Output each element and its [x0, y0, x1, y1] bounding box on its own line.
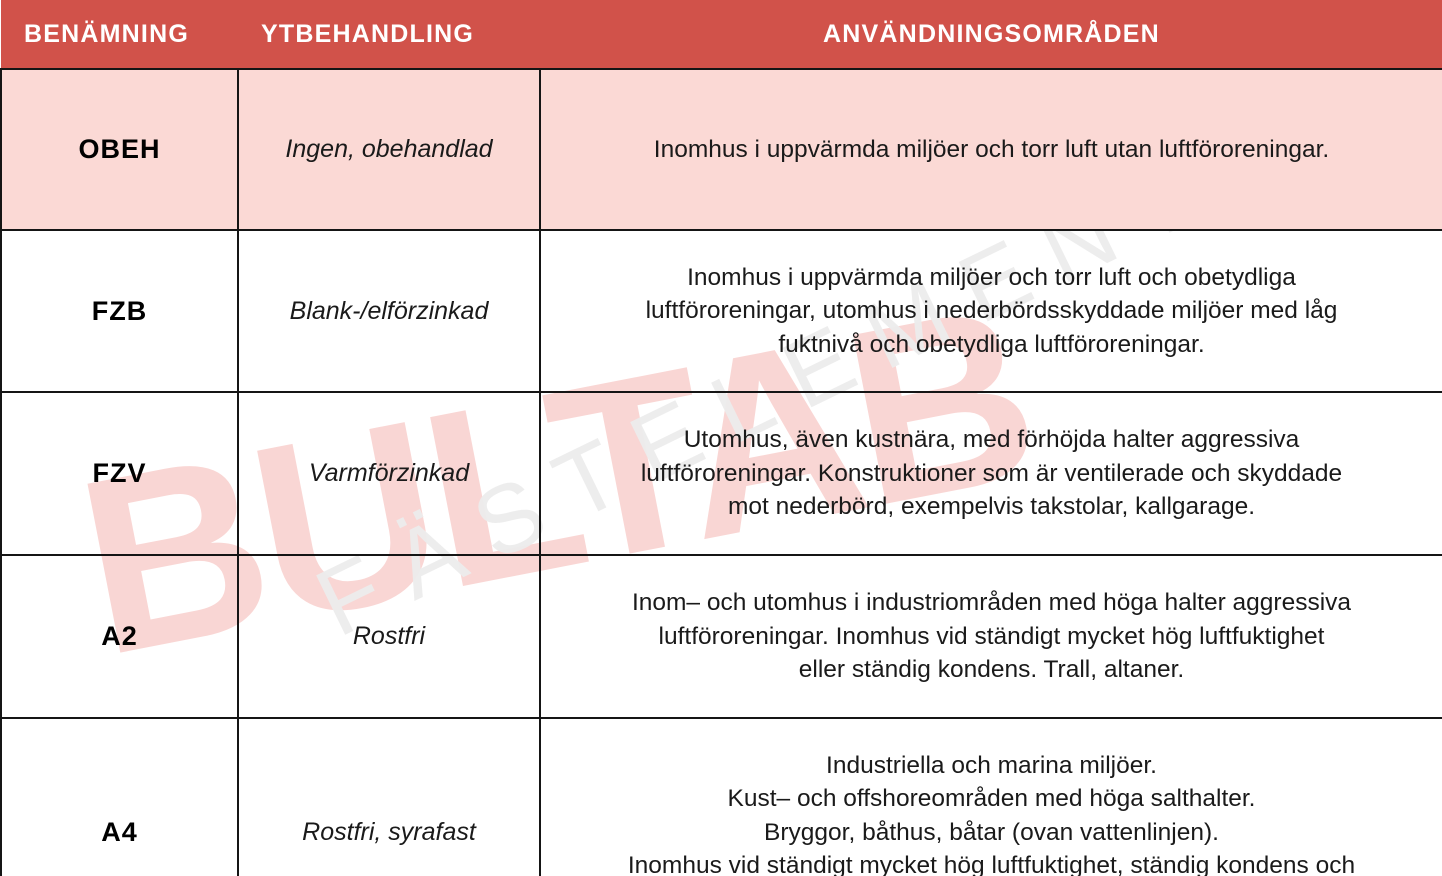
text-line: Inom– och utomhus i industriområden med …	[551, 586, 1432, 620]
cell-benamning: A2	[1, 555, 238, 718]
cell-benamning: FZV	[1, 392, 238, 555]
table-header: BENÄMNING YTBEHANDLING ANVÄNDNINGSOMRÅDE…	[1, 0, 1442, 69]
text-line: Utomhus, även kustnära, med förhöjda hal…	[551, 423, 1432, 457]
table-row: A4 Rostfri, syrafast Industriella och ma…	[1, 718, 1442, 876]
cell-ytbehandling: Rostfri	[238, 555, 540, 718]
text-line: Inomhus i uppvärmda miljöer och torr luf…	[551, 261, 1432, 295]
text-line: Industriella och marina miljöer.	[551, 749, 1432, 783]
column-header-anvandningsomraden: ANVÄNDNINGSOMRÅDEN	[540, 0, 1442, 69]
cell-anvandningsomraden: Industriella och marina miljöer. Kust– o…	[540, 718, 1442, 876]
cell-anvandningsomraden: Utomhus, även kustnära, med förhöjda hal…	[540, 392, 1442, 555]
text-line: eller ständig kondens. Trall, altaner.	[551, 653, 1432, 687]
cell-ytbehandling: Blank-/elförzinkad	[238, 230, 540, 392]
table-row: A2 Rostfri Inom– och utomhus i industrio…	[1, 555, 1442, 718]
column-header-benamning: BENÄMNING	[1, 0, 238, 69]
text-line: Kust– och offshoreområden med höga salth…	[551, 782, 1432, 816]
cell-benamning: FZB	[1, 230, 238, 392]
cell-benamning: A4	[1, 718, 238, 876]
text-line: Inomhus vid ständigt mycket hög luftfukt…	[551, 849, 1432, 876]
cell-benamning: OBEH	[1, 69, 238, 230]
page-root: BULTAB FÄSTELEMENT BENÄMNING YTBEHANDLIN…	[0, 0, 1442, 876]
table-header-row: BENÄMNING YTBEHANDLING ANVÄNDNINGSOMRÅDE…	[1, 0, 1442, 69]
text-line: luftföroreningar. Konstruktioner som är …	[551, 457, 1432, 491]
cell-anvandningsomraden: Inomhus i uppvärmda miljöer och torr luf…	[540, 69, 1442, 230]
text-line: Bryggor, båthus, båtar (ovan vattenlinje…	[551, 816, 1432, 850]
text-line: luftföroreningar. Inomhus vid ständigt m…	[551, 620, 1432, 654]
table-row: FZB Blank-/elförzinkad Inomhus i uppvärm…	[1, 230, 1442, 392]
text-line: Inomhus i uppvärmda miljöer och torr luf…	[551, 133, 1432, 167]
table-body: OBEH Ingen, obehandlad Inomhus i uppvärm…	[1, 69, 1442, 876]
cell-ytbehandling: Ingen, obehandlad	[238, 69, 540, 230]
cell-anvandningsomraden: Inom– och utomhus i industriområden med …	[540, 555, 1442, 718]
cell-ytbehandling: Varmförzinkad	[238, 392, 540, 555]
text-line: luftföroreningar, utomhus i nederbördssk…	[551, 294, 1432, 328]
text-line: mot nederbörd, exempelvis takstolar, kal…	[551, 490, 1432, 524]
table-row: FZV Varmförzinkad Utomhus, även kustnära…	[1, 392, 1442, 555]
surface-treatment-table: BENÄMNING YTBEHANDLING ANVÄNDNINGSOMRÅDE…	[0, 0, 1442, 876]
text-line: fuktnivå och obetydliga luftföroreningar…	[551, 328, 1432, 362]
cell-ytbehandling: Rostfri, syrafast	[238, 718, 540, 876]
column-header-ytbehandling: YTBEHANDLING	[238, 0, 540, 69]
table-row: OBEH Ingen, obehandlad Inomhus i uppvärm…	[1, 69, 1442, 230]
cell-anvandningsomraden: Inomhus i uppvärmda miljöer och torr luf…	[540, 230, 1442, 392]
